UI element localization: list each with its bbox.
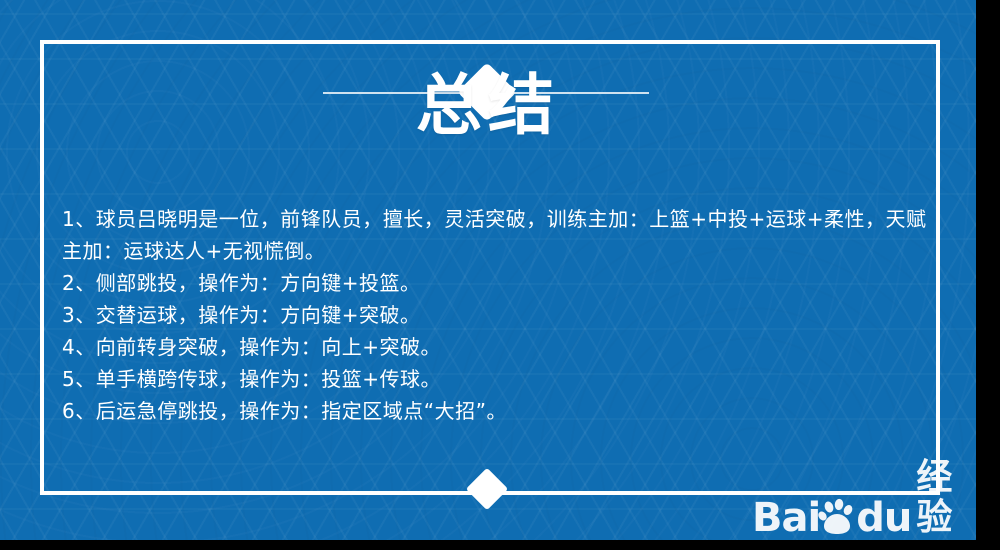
page-title: 总结	[0, 70, 976, 143]
right-black-bar	[976, 0, 1000, 550]
title-block: 总结	[0, 66, 976, 143]
body-line-3: 3、交替运球，操作为：方向键+突破。	[62, 299, 930, 331]
body-line-4: 4、向前转身突破，操作为：向上+突破。	[62, 331, 930, 363]
body-line-2: 2、侧部跳投，操作为：方向键+投篮。	[62, 267, 930, 299]
baidu-logo-row: Bai du 经验	[752, 458, 967, 538]
baidu-logo-bai: Bai	[752, 498, 820, 538]
slide-canvas: 总结 1、球员吕晓明是一位，前锋队员，擅长，灵活突破，训练主加：上篮+中投+运球…	[0, 0, 976, 540]
body-line-6: 6、后运急停跳投，操作为：指定区域点“大招”。	[62, 395, 930, 427]
body-line-1: 1、球员吕晓明是一位，前锋队员，擅长，灵活突破，训练主加：上篮+中投+运球+柔性…	[62, 203, 930, 267]
baidu-paw-icon	[817, 498, 857, 538]
baidu-logo-jingyan: 经验	[916, 458, 967, 538]
slide-container: 总结 1、球员吕晓明是一位，前锋队员，擅长，灵活突破，训练主加：上篮+中投+运球…	[0, 0, 1000, 550]
body-text-block: 1、球员吕晓明是一位，前锋队员，擅长，灵活突破，训练主加：上篮+中投+运球+柔性…	[62, 203, 930, 427]
baidu-watermark: Bai du 经验 jingyan.baidu.com	[752, 458, 967, 540]
body-line-5: 5、单手横跨传球，操作为：投篮+传球。	[62, 363, 930, 395]
baidu-logo-du: du	[856, 498, 911, 538]
